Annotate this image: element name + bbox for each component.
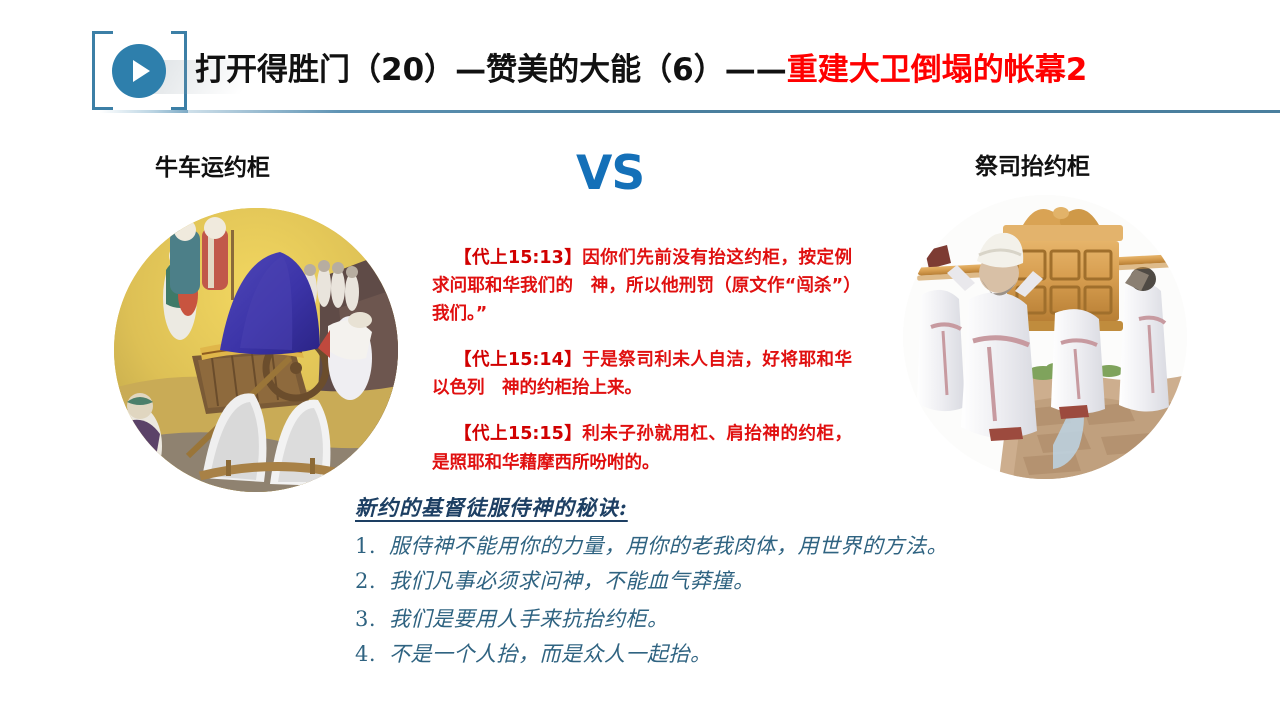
list-item-number: 2.	[355, 571, 389, 592]
play-button-icon[interactable]	[112, 44, 166, 98]
list-item: 3. 我们是要用人手来抗抬约柜。	[355, 609, 1145, 630]
scripture-verse: 【代上15:13】因你们先前没有抬这约柜，按定例求问耶和华我们的 神，所以他刑罚…	[432, 244, 852, 329]
vs-label: VS	[576, 146, 644, 201]
right-column-caption: 祭司抬约柜	[975, 147, 1090, 181]
scripture-verse: 【代上15:15】利未子孙就用杠、肩抬神的约柜，是照耶和华藉摩西所吩咐的。	[432, 420, 852, 477]
list-item-text: 服侍神不能用你的力量，用你的老我肉体，用世界的方法。	[389, 536, 948, 557]
list-item: 1. 服侍神不能用你的力量，用你的老我肉体，用世界的方法。	[355, 536, 1145, 557]
list-item-text: 不是一个人抬，而是众人一起抬。	[389, 644, 712, 665]
verse-reference: 【代上15:14】	[454, 350, 582, 370]
list-item-text: 我们凡事必须求问神，不能血气莽撞。	[389, 571, 755, 592]
list-item: 4. 不是一个人抬，而是众人一起抬。	[355, 644, 1145, 665]
page-title-main: 打开得胜门（20）—赞美的大能（6）——	[195, 52, 787, 88]
list-item-number: 3.	[355, 609, 389, 630]
priests-carrying-ark-illustration	[903, 195, 1187, 479]
teaching-heading: 新约的基督徒服侍神的秘诀:	[355, 492, 628, 522]
teaching-block: 新约的基督徒服侍神的秘诀: 1. 服侍神不能用你的力量，用你的老我肉体，用世界的…	[355, 492, 1145, 679]
verse-reference: 【代上15:13】	[454, 248, 582, 268]
slide-header: 打开得胜门（20）—赞美的大能（6）——重建大卫倒塌的帐幕2	[0, 0, 1280, 120]
verse-reference: 【代上15:15】	[454, 424, 582, 444]
list-item-text: 我们是要用人手来抗抬约柜。	[389, 609, 669, 630]
play-triangle-glyph	[133, 60, 150, 82]
page-title: 打开得胜门（20）—赞美的大能（6）——重建大卫倒塌的帐幕2	[195, 44, 1087, 89]
page-title-accent: 重建大卫倒塌的帐幕2	[787, 52, 1088, 88]
list-item: 2. 我们凡事必须求问神，不能血气莽撞。	[355, 571, 1145, 592]
oxcart-carrying-ark-illustration	[114, 208, 398, 492]
header-divider-rule	[188, 110, 1280, 113]
list-item-number: 1.	[355, 536, 389, 557]
scripture-block: 【代上15:13】因你们先前没有抬这约柜，按定例求问耶和华我们的 神，所以他刑罚…	[432, 226, 852, 477]
scripture-verse: 【代上15:14】于是祭司利未人自洁，好将耶和华以色列 神的约柜抬上来。	[432, 346, 852, 403]
left-column-caption: 牛车运约柜	[155, 148, 270, 182]
header-rule-left-segment	[100, 110, 190, 113]
list-item-number: 4.	[355, 644, 389, 665]
